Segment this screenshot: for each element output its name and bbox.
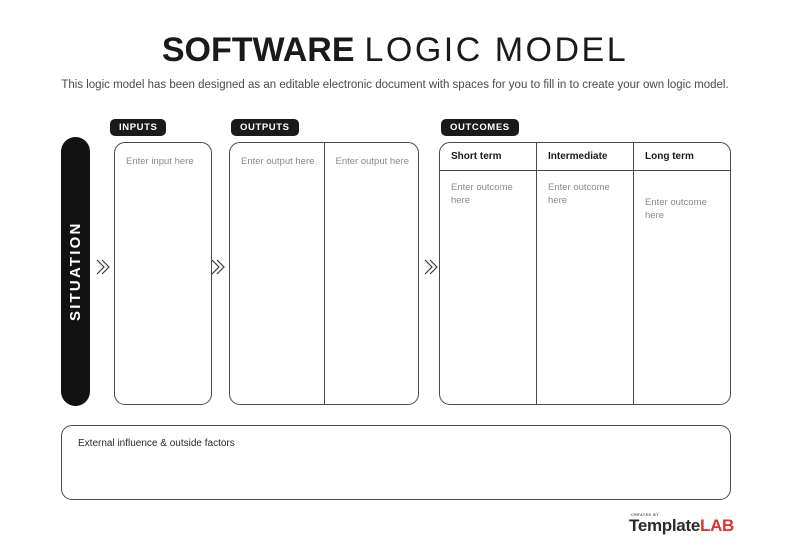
title-strong: SOFTWARE (162, 31, 355, 69)
double-chevron-right-icon (96, 258, 110, 276)
double-chevron-right-icon (424, 258, 438, 276)
outcomes-column-short-term[interactable]: Short term Enter outcome here (440, 143, 536, 404)
page-title: SOFTWARE LOGIC MODEL (0, 30, 790, 70)
page-header: SOFTWARE LOGIC MODEL This logic model ha… (0, 30, 790, 93)
outputs-cell[interactable]: Enter output here (324, 143, 419, 404)
logo-template-text: Template (629, 516, 700, 535)
section-label-inputs: INPUTS (110, 119, 166, 136)
inputs-cell[interactable]: Enter input here (115, 143, 211, 404)
outcomes-header-short-term: Short term (440, 143, 536, 171)
title-light: LOGIC MODEL (364, 31, 628, 69)
outputs-box[interactable]: Enter output here Enter output here (229, 142, 419, 405)
section-label-outcomes: OUTCOMES (441, 119, 519, 136)
outcomes-box[interactable]: Short term Enter outcome here Intermedia… (439, 142, 731, 405)
outputs-placeholder: Enter output here (336, 156, 411, 169)
double-chevron-right-icon (211, 258, 225, 276)
external-influence-label: External influence & outside factors (78, 438, 235, 449)
outcomes-column-long-term[interactable]: Long term Enter outcome here (633, 143, 730, 404)
outputs-cell[interactable]: Enter output here (230, 143, 324, 404)
situation-label: SITUATION (61, 137, 90, 406)
logo-wordmark: TemplateLAB (629, 517, 734, 535)
external-influence-box[interactable]: External influence & outside factors (61, 425, 731, 500)
outcomes-column-intermediate[interactable]: Intermediate Enter outcome here (536, 143, 633, 404)
inputs-box[interactable]: Enter input here (114, 142, 212, 405)
outcomes-header-intermediate: Intermediate (537, 143, 633, 171)
outcomes-placeholder: Enter outcome here (451, 182, 528, 207)
inputs-placeholder: Enter input here (126, 156, 203, 169)
logo-lab-text: LAB (700, 516, 734, 535)
outcomes-header-long-term: Long term (634, 143, 730, 171)
outcomes-cell-long-term[interactable]: Enter outcome here (634, 171, 730, 404)
outcomes-placeholder: Enter outcome here (645, 197, 722, 222)
outcomes-cell-intermediate[interactable]: Enter outcome here (537, 171, 633, 404)
outcomes-placeholder: Enter outcome here (548, 182, 625, 207)
outputs-placeholder: Enter output here (241, 156, 316, 169)
page-subtitle: This logic model has been designed as an… (0, 78, 790, 93)
outcomes-cell-short-term[interactable]: Enter outcome here (440, 171, 536, 404)
templatelab-logo: CREATED BY TemplateLAB (629, 513, 734, 535)
situation-panel: SITUATION (61, 137, 90, 406)
section-label-outputs: OUTPUTS (231, 119, 299, 136)
